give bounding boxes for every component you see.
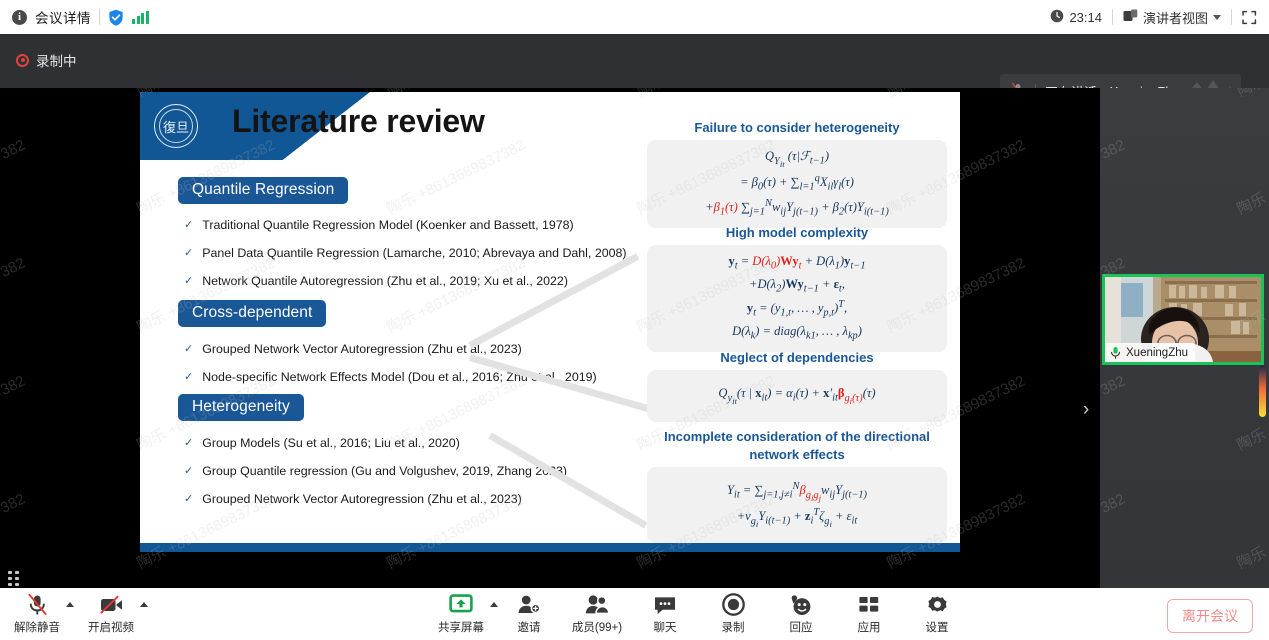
slide-bullet-text: Network Quantile Autoregression (Zhu et … [202,274,568,288]
slide-bullet: ✓ Grouped Network Vector Autoregression … [184,492,522,506]
check-icon: ✓ [184,436,193,450]
slide-chip: Cross-dependent [178,300,326,327]
university-crest-icon: 復旦 [154,104,198,148]
divider [99,9,100,25]
mic-active-icon [1110,346,1121,359]
signal-strength-icon[interactable] [132,11,149,24]
slide-bullet-text: Group Models (Su et al., 2016; Liu et al… [202,436,460,450]
list-line [8,577,28,580]
equation-line: +β1(τ) ∑j=1NwijYj(t−1) + β2(τ)Yi(t−1) [653,196,941,221]
video-options-chevron-icon[interactable] [140,602,148,607]
meeting-time: 23:14 [1069,10,1102,25]
equation-box: Yit = ∑j=1,j≠iNβgigjwijYj(t−1) +vgiYi(t−… [647,467,947,543]
check-icon: ✓ [184,342,193,356]
equation-line: Yit = ∑j=1,j≠iNβgigjwijYj(t−1) [653,479,941,505]
connector-line [469,354,663,416]
equation-line: +D(λ2)Wyt−1 + εt, [653,275,941,298]
check-icon: ✓ [184,464,193,478]
crest-inner: 復旦 [159,109,193,143]
settings-button[interactable]: 设置 [906,589,968,639]
start-video-button[interactable]: 开启视频 [80,589,142,639]
meeting-timer: 23:14 [1050,9,1102,26]
participants-icon [585,594,610,616]
view-mode-label: 演讲者视图 [1143,8,1208,27]
slide-bullet: ✓ Network Quantile Autoregression (Zhu e… [184,274,568,288]
participants-button-label: 成员(99+) [572,619,622,635]
shield-check-icon[interactable] [108,9,124,26]
slide-chip: Heterogeneity [178,394,304,421]
fullscreen-icon[interactable] [1242,10,1257,25]
record-icon [722,594,745,616]
watermark-text: 陶乐 +8613689837382 [0,134,28,219]
watermark-text: 陶乐 +8613689837382 [1233,88,1269,101]
slide-bullet-text: Panel Data Quantile Regression (Lamarche… [202,246,626,260]
slide-bullet: ✓ Group Models (Su et al., 2016; Liu et … [184,436,460,450]
invite-icon [517,594,541,616]
connector-line [488,432,647,528]
mic-muted-icon [26,594,49,616]
equation-line: +vgiYi(t−1) + ziTζgi + εit [653,505,941,531]
equation-heading: High model complexity [647,225,947,240]
clock-icon [1050,9,1064,26]
slide-bullet-text: Group Quantile regression (Gu and Volgus… [202,464,567,478]
equation-heading: Neglect of dependencies [647,350,947,365]
meeting-toolbar: 解除静音 开启视频 共享屏幕 [0,588,1269,640]
participant-list-icon[interactable] [6,566,30,588]
settings-button-label: 设置 [926,619,949,635]
check-icon: ✓ [184,246,193,260]
slide-bullet: ✓ Panel Data Quantile Regression (Lamarc… [184,246,627,260]
equation-heading: Incomplete consideration of the directio… [647,428,947,463]
participant-name-badge: XueningZhu [1105,343,1195,362]
meeting-detail-label[interactable]: 会议详情 [35,7,91,27]
filmstrip-scrollbar[interactable] [1259,365,1266,417]
equation-line: = β0(τ) + ∑l=1qXilγl(τ) [653,171,941,196]
slide-bullet: ✓ Group Quantile regression (Gu and Volg… [184,464,567,478]
watermark-text: 陶乐 +8613689837382 [1100,488,1128,573]
mute-button[interactable]: 解除静音 [6,589,68,639]
record-button-label: 录制 [722,619,745,635]
divider [1231,9,1232,25]
watermark-text: 陶乐 +8613689837382 [0,252,28,337]
chat-button[interactable]: 聊天 [634,589,696,639]
mute-button-label: 解除静音 [14,619,60,635]
list-line [8,571,28,574]
mic-options-chevron-icon[interactable] [66,602,74,607]
watermark-text: 陶乐 +8613689837382 [0,88,28,101]
equation-line: yt = D(λ0)Wyt + D(λ1)yt−1 [653,252,941,275]
start-video-button-label: 开启视频 [88,619,134,635]
apps-button[interactable]: 应用 [838,589,900,639]
connector-line [468,253,639,348]
watermark-text: 陶乐 +8613689837382 [1100,370,1128,455]
reaction-icon [789,594,813,616]
watermark-text: 陶乐 +8613689837382 [0,370,28,455]
equation-box: yt = D(λ0)Wyt + D(λ1)yt−1 +D(λ2)Wyt−1 + … [647,245,947,352]
share-screen-button[interactable]: 共享屏幕 [430,589,492,639]
participant-video-tile[interactable]: XueningZhu [1102,274,1264,365]
video-off-icon [99,594,124,616]
chevron-right-icon[interactable]: › [1078,398,1094,422]
participants-button[interactable]: 成员(99+) [566,589,628,639]
slide-bullet-text: Grouped Network Vector Autoregression (Z… [202,492,522,506]
invite-button-label: 邀请 [518,619,541,635]
equation-line: Qyit(τ | xit) = αi(τ) + x′itβgi(τ)(τ) [653,384,941,408]
slide-bullet-text: Traditional Quantile Regression Model (K… [202,218,573,232]
window-title-bar: i 会议详情 23:14 演讲者视图 [0,0,1269,34]
apps-icon [858,594,880,616]
share-options-chevron-icon[interactable] [490,602,498,607]
equation-line: QYit (τ|ℱt−1) [653,147,941,171]
reaction-button-label: 回应 [790,619,813,635]
shared-screen-stage: 復旦 Literature review Quantile Regression… [0,88,1100,588]
participant-name: XueningZhu [1126,347,1188,359]
record-button[interactable]: 录制 [702,589,764,639]
layout-icon [1123,9,1138,26]
info-icon[interactable]: i [12,10,27,25]
equation-box: QYit (τ|ℱt−1) = β0(τ) + ∑l=1qXilγl(τ) +β… [647,140,947,228]
check-icon: ✓ [184,370,193,384]
share-screen-icon [449,594,473,616]
watermark-text: 陶乐 +8613689837382 [1100,134,1128,219]
watermark-text: 陶乐 +8613689837382 [1233,488,1269,573]
equation-line: yt = (y1,t, … , yp,t)T, [653,297,941,322]
slide-footer-bar [140,543,960,552]
slide-chip: Quantile Regression [178,177,348,204]
recording-indicator: 录制中 [16,50,77,70]
equation-line: D(λk) = diag(λk1, … , λkp) [653,322,941,345]
share-screen-button-label: 共享屏幕 [438,619,484,635]
video-filmstrip: XueningZhu 陶乐 +8613689837382陶乐 +86136898… [1100,88,1269,588]
view-mode-selector[interactable]: 演讲者视图 [1123,8,1221,27]
chevron-down-icon [1213,15,1221,20]
watermark-text: 陶乐 +8613689837382 [1100,88,1128,101]
settings-icon [926,594,949,616]
list-line [8,583,28,586]
watermark-text: 陶乐 +8613689837382 [1233,134,1269,219]
toolbar-center-group: 共享屏幕 邀请 [430,589,968,639]
chat-button-label: 聊天 [654,619,677,635]
check-icon: ✓ [184,492,193,506]
check-icon: ✓ [184,218,193,232]
check-icon: ✓ [184,274,193,288]
slide-bullet: ✓ Traditional Quantile Regression Model … [184,218,574,232]
chat-icon [653,594,677,616]
recording-bar: 录制中 正在讲话: XueningZhu; [0,34,1269,88]
divider [1112,9,1113,25]
invite-button[interactable]: 邀请 [498,589,560,639]
equation-box: Qyit(τ | xit) = αi(τ) + x′itβgi(τ)(τ) [647,370,947,422]
record-dot-icon [16,54,29,67]
leave-meeting-button[interactable]: 离开会议 [1167,599,1253,633]
reaction-button[interactable]: 回应 [770,589,832,639]
recording-label: 录制中 [36,50,77,70]
watermark-text: 陶乐 +8613689837382 [0,488,28,573]
apps-button-label: 应用 [858,619,881,635]
slide-title: Literature review [232,103,485,140]
equation-column: Failure to consider heterogeneity QYit (… [647,92,947,552]
presentation-slide: 復旦 Literature review Quantile Regression… [140,92,960,552]
equation-heading: Failure to consider heterogeneity [647,120,947,135]
